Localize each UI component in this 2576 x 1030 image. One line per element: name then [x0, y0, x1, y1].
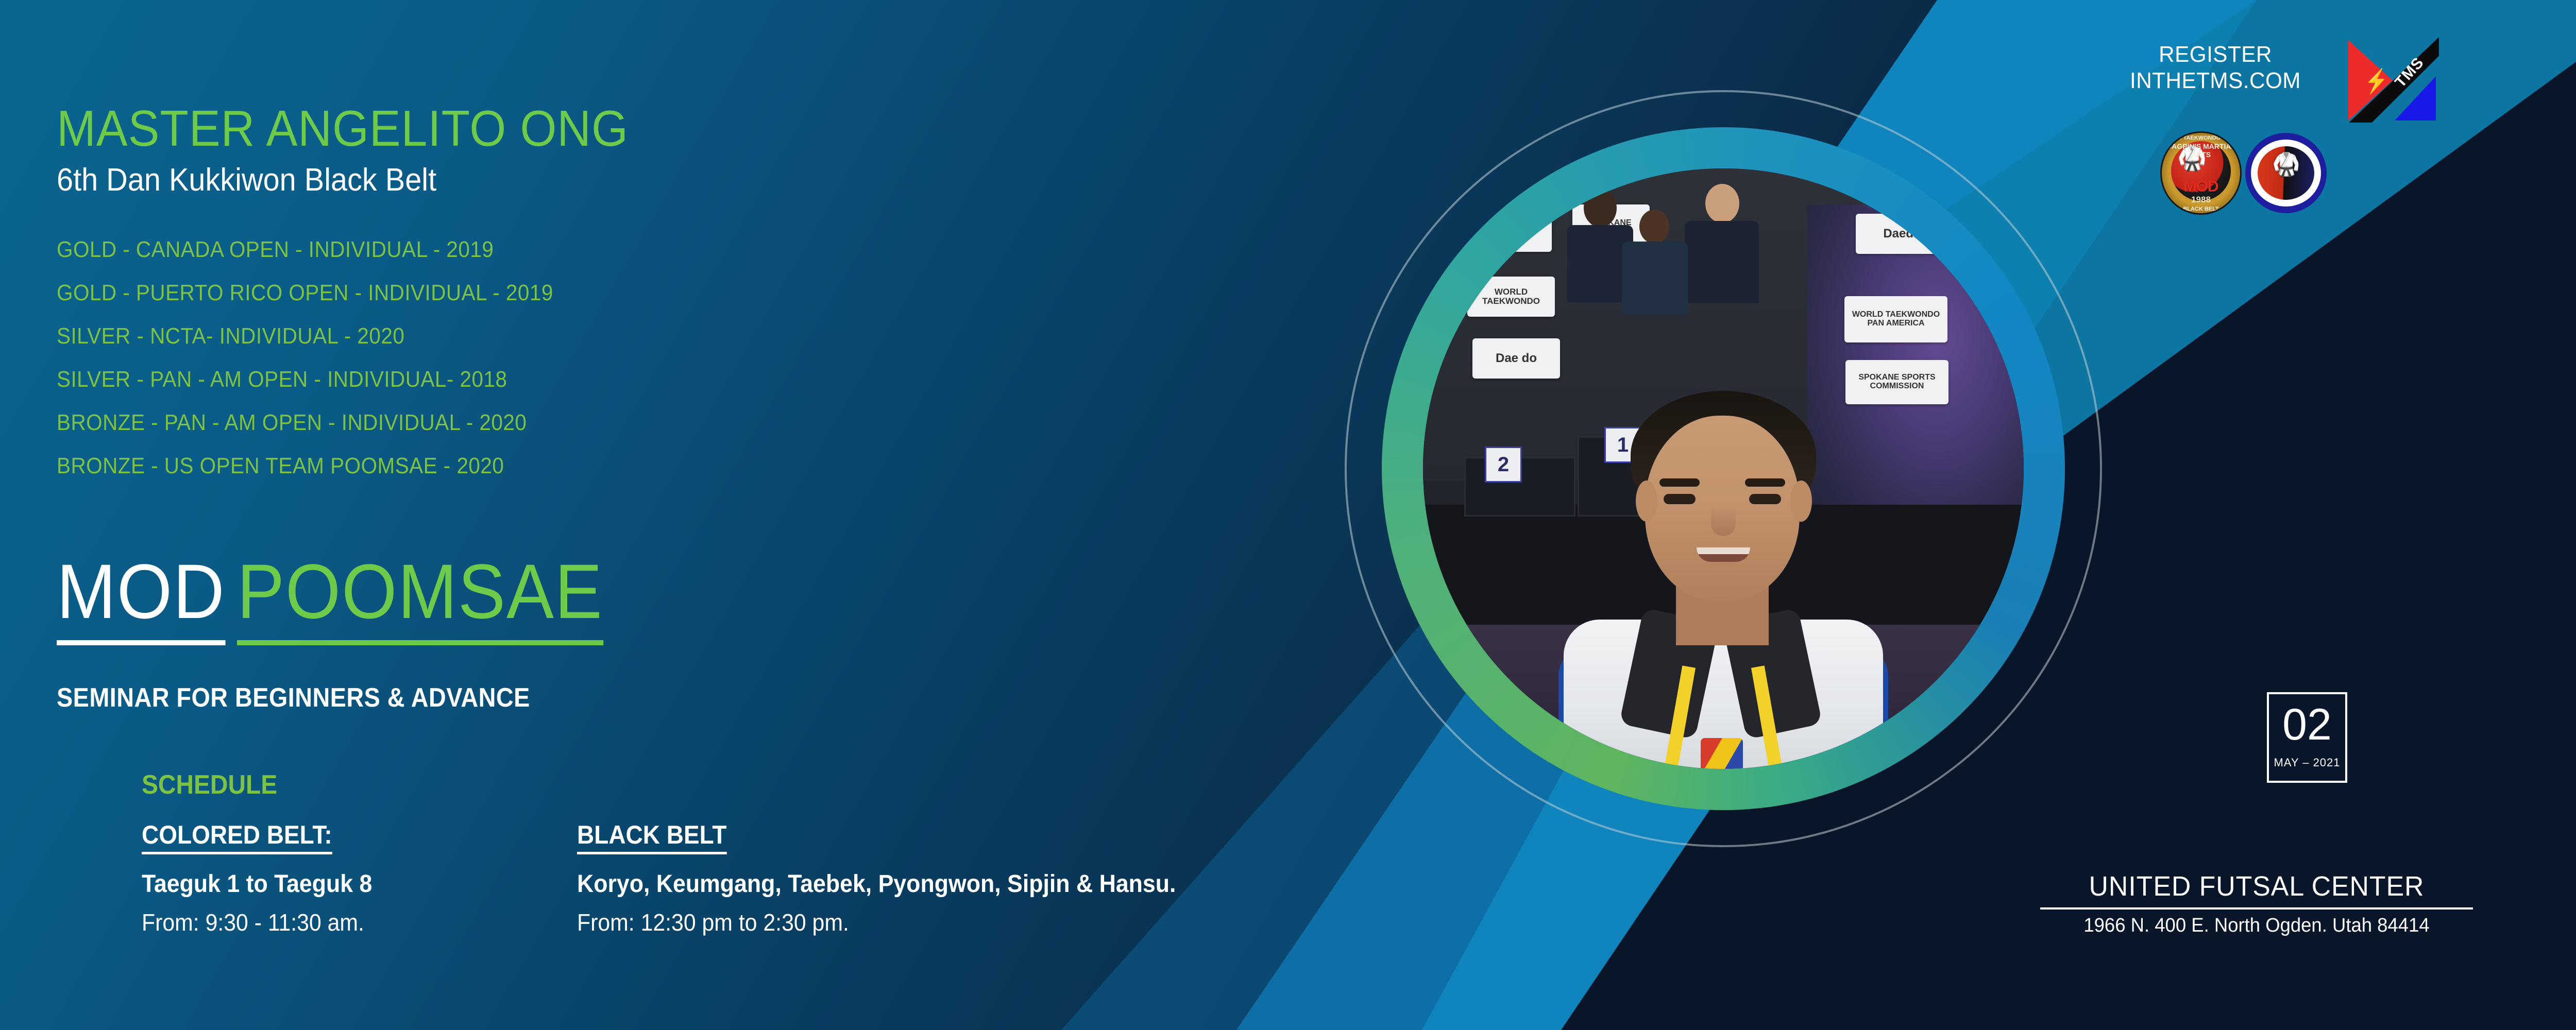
venue-name: UNITED FUTSAL CENTER	[1990, 870, 2524, 902]
photo-sponsor-card: Dae do	[1472, 338, 1560, 379]
schedule-column-header: BLACK BELT	[577, 820, 726, 854]
schedule-heading: SCHEDULE	[142, 769, 277, 800]
schedule-forms: Taeguk 1 to Taeguk 8	[142, 870, 496, 898]
mod-logo-center-text: MOD	[2162, 178, 2240, 196]
schedule-time: From: 9:30 - 11:30 am.	[142, 908, 496, 936]
mod-martial-arts-logo-icon: 🥋 M.O.D. TAEKWONDO ELITE DAGPIN'S MARTIA…	[2162, 133, 2240, 213]
schedule-forms: Koryo, Keumgang, Taebek, Pyongwon, Sipji…	[577, 870, 1296, 898]
achievement-item: SILVER - NCTA- INDIVIDUAL - 2020	[57, 323, 404, 349]
achievement-item: GOLD - PUERTO RICO OPEN - INDIVIDUAL - 2…	[57, 280, 553, 306]
register-label: REGISTER	[2107, 41, 2324, 67]
photo-sponsor-card: Daedo	[1856, 214, 1948, 254]
achievement-item: SILVER - PAN - AM OPEN - INDIVIDUAL- 201…	[57, 367, 507, 392]
event-title: MOD POOMSAE	[57, 547, 635, 645]
instructor-rank: 6th Dan Kukkiwon Black Belt	[57, 162, 436, 198]
achievement-item: BRONZE - PAN - AM OPEN - INDIVIDUAL - 20…	[57, 410, 527, 436]
photo-sponsor-card: WORLD TAEKWONDO	[1467, 277, 1555, 317]
photo-master-figure	[1558, 377, 1888, 769]
schedule-time: From: 12:30 pm to 2:30 pm.	[577, 908, 1296, 936]
schedule-column-colored-belt: COLORED BELT: Taeguk 1 to Taeguk 8 From:…	[142, 820, 523, 936]
register-block[interactable]: REGISTER INTHETMS.COM	[2102, 41, 2329, 94]
tms-logo-icon: ⚡ TMS	[2343, 37, 2439, 123]
achievement-item: BRONZE - US OPEN TEAM POOMSAE - 2020	[57, 453, 504, 479]
mod-logo-year: 1988	[2162, 195, 2240, 205]
photo-athlete	[1681, 184, 1763, 302]
kicking-figure-icon: 🥋	[2272, 153, 2300, 176]
photo-athlete	[1619, 210, 1691, 313]
event-month-year: MAY – 2021	[2269, 756, 2345, 769]
instructor-portrait: MTU SPOKANE WORLD TAEKWONDO Daedo WORLD …	[1345, 90, 2102, 847]
photo-sponsor-card: MTU	[1485, 215, 1552, 252]
achievement-item: GOLD - CANADA OPEN - INDIVIDUAL - 2019	[57, 237, 494, 263]
event-day: 02	[2269, 702, 2345, 747]
schedule-column-black-belt: BLACK BELT Koryo, Keumgang, Taebek, Pyon…	[577, 820, 1350, 936]
venue-address: 1966 N. 400 E. North Ogden. Utah 84414	[1990, 915, 2524, 937]
mod-logo-arc-top: M.O.D. TAEKWONDO ELITE	[2162, 135, 2240, 141]
ong-taekwondo-logo-icon: 🥋	[2245, 133, 2327, 213]
event-title-poomsae: POOMSAE	[237, 547, 603, 645]
lightning-bolt-icon: ⚡	[2365, 67, 2388, 95]
register-url[interactable]: INTHETMS.COM	[2107, 67, 2324, 94]
portrait-photo: MTU SPOKANE WORLD TAEKWONDO Daedo WORLD …	[1423, 168, 2024, 769]
photo-podium-number: 2	[1485, 447, 1522, 483]
mod-logo-arc-mid: DAGPIN'S MARTIAL ARTS	[2162, 142, 2240, 159]
venue-divider	[2040, 907, 2473, 909]
seminar-poster: MTU SPOKANE WORLD TAEKWONDO Daedo WORLD …	[0, 0, 2576, 1030]
mod-logo-arc-bottom: BLACK BELT	[2162, 206, 2240, 212]
schedule-column-header: COLORED BELT:	[142, 820, 332, 854]
venue-block: UNITED FUTSAL CENTER 1966 N. 400 E. Nort…	[1978, 870, 2535, 937]
page-title: MASTER ANGELITO ONG	[57, 99, 629, 158]
event-subtitle: SEMINAR FOR BEGINNERS & ADVANCE	[57, 682, 530, 713]
event-title-mod: MOD	[57, 547, 225, 645]
left-content-column: MASTER ANGELITO ONG 6th Dan Kukkiwon Bla…	[57, 0, 1242, 1030]
event-date-box: 02 MAY – 2021	[2267, 692, 2347, 783]
photo-sponsor-card: WORLD TAEKWONDO PAN AMERICA	[1844, 296, 1947, 342]
